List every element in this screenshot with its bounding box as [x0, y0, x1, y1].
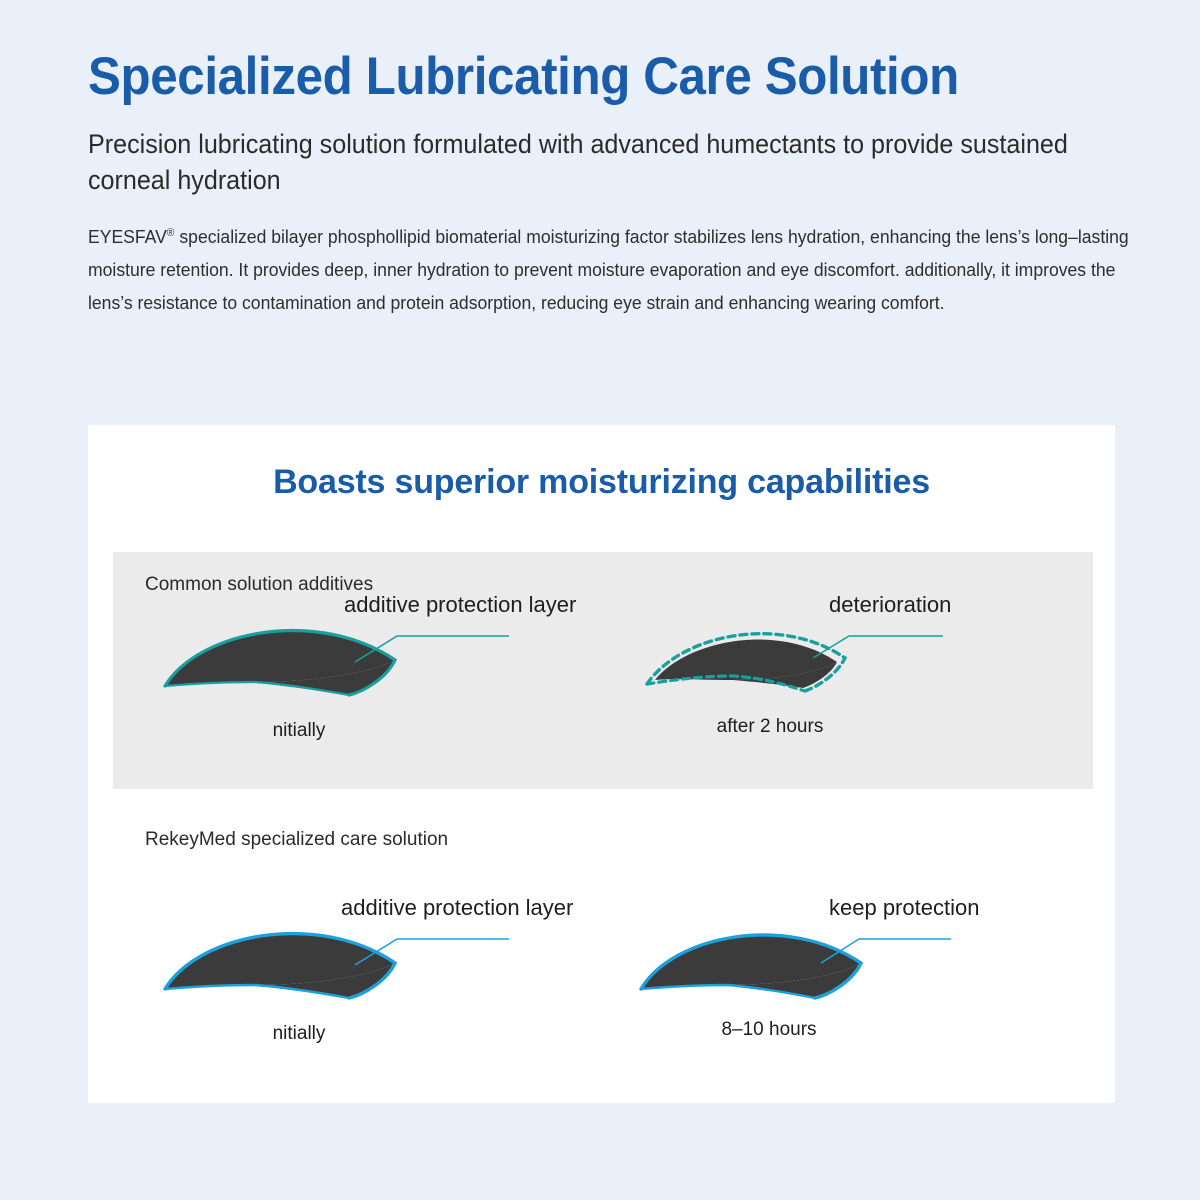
lens-diagram-rekey-kept — [633, 917, 1093, 1027]
body-text: specialized bilayer phosphollipid biomat… — [88, 226, 1129, 313]
figure-common-after-2-hours: deterioration after 2 hours — [633, 614, 1093, 764]
registered-mark-icon: ® — [167, 227, 175, 239]
panel-rekeymed-care-solution: RekeyMed specialized care solution addit… — [113, 807, 1093, 1087]
callout-label-additive-protection-layer: additive protection layer — [341, 895, 573, 921]
comparison-card: Boasts superior moisturizing capabilitie… — [88, 425, 1115, 1103]
lens-diagram-rekey-initial — [159, 917, 619, 1027]
lens-diagram-common-initial — [159, 614, 619, 724]
panel-label-common: Common solution additives — [145, 574, 373, 596]
page-title: Specialized Lubricating Care Solution — [88, 48, 1046, 105]
lens-diagram-common-deteriorated — [633, 614, 1093, 724]
panel-label-rekeymed: RekeyMed specialized care solution — [145, 829, 448, 851]
figure-caption-rekey-initial: nitially — [199, 1023, 399, 1045]
panel-common-solution-additives: Common solution additives additive prote… — [113, 552, 1093, 789]
card-heading: Boasts superior moisturizing capabilitie… — [88, 463, 1115, 502]
figure-common-initial: additive protection layer nitially — [159, 614, 619, 764]
figure-rekey-8-10-hours: keep protection 8–10 hours — [633, 917, 1093, 1067]
callout-leader-line — [813, 636, 943, 658]
callout-label-additive-protection-layer: additive protection layer — [344, 592, 576, 618]
figure-rekey-initial: additive protection layer nitially — [159, 917, 619, 1067]
callout-label-keep-protection: keep protection — [829, 895, 979, 921]
page-header: Specialized Lubricating Care Solution Pr… — [88, 48, 1118, 320]
callout-label-deterioration: deterioration — [829, 592, 951, 618]
figure-caption-8-10-hours: 8–10 hours — [669, 1019, 869, 1041]
figure-caption-after-2-hours: after 2 hours — [665, 716, 875, 738]
figure-caption-common-initial: nitially — [199, 720, 399, 742]
page-subtitle: Precision lubricating solution formulate… — [88, 127, 1148, 199]
brand-name: EYESFAV — [88, 226, 167, 247]
page-body-paragraph: EYESFAV® specialized bilayer phosphollip… — [88, 221, 1133, 320]
